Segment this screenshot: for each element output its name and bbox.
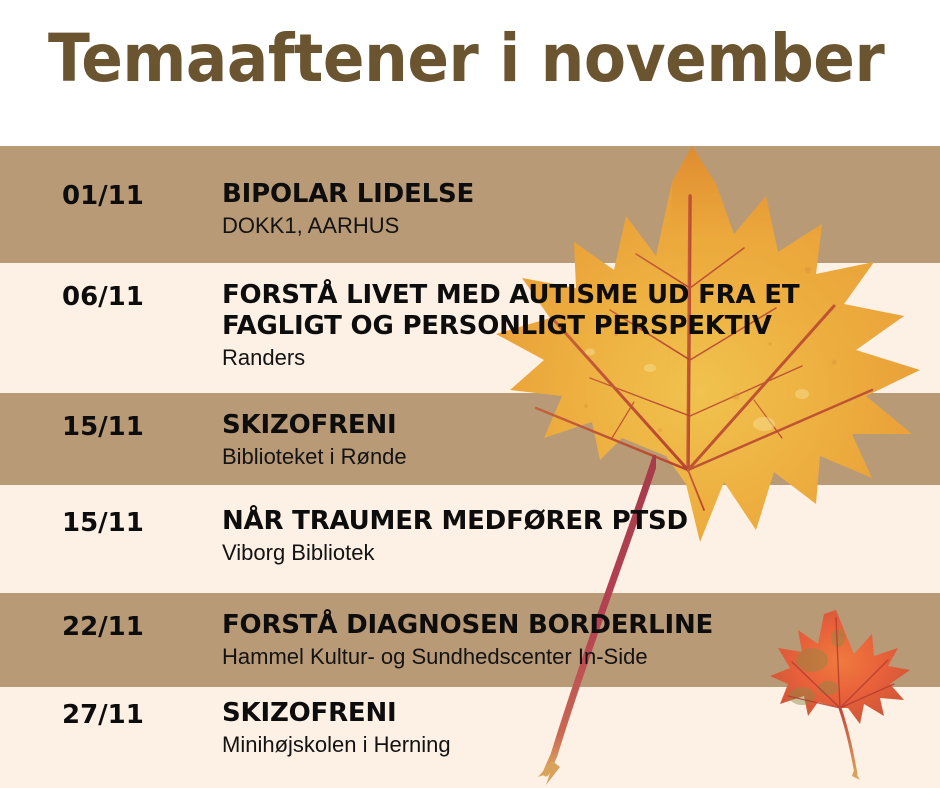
event-title: NÅR TRAUMER MEDFØRER PTSD	[222, 506, 930, 537]
event-date: 15/11	[62, 508, 144, 538]
event-body: FORSTÅ DIAGNOSEN BORDERLINEHammel Kultur…	[222, 610, 930, 670]
event-title: FORSTÅ LIVET MED AUTISME UD FRA ET FAGLI…	[222, 280, 930, 342]
event-venue: DOKK1, AARHUS	[222, 212, 930, 239]
event-venue: Viborg Bibliotek	[222, 539, 930, 566]
event-venue: Hammel Kultur- og Sundhedscenter In-Side	[222, 643, 930, 670]
event-title: SKIZOFRENI	[222, 698, 930, 729]
event-date: 01/11	[62, 181, 144, 211]
event-body: BIPOLAR LIDELSEDOKK1, AARHUS	[222, 179, 930, 239]
event-date: 27/11	[62, 700, 144, 730]
event-title: FORSTÅ DIAGNOSEN BORDERLINE	[222, 610, 930, 641]
page-title: Temaaftener i november	[48, 26, 884, 92]
event-body: NÅR TRAUMER MEDFØRER PTSDViborg Bibliote…	[222, 506, 930, 566]
event-title: SKIZOFRENI	[222, 410, 930, 441]
event-body: SKIZOFRENIBiblioteket i Rønde	[222, 410, 930, 470]
poster-canvas: Temaaftener i november 01/11BIPOLAR LIDE…	[0, 0, 940, 788]
event-body: FORSTÅ LIVET MED AUTISME UD FRA ET FAGLI…	[222, 280, 930, 371]
event-date: 22/11	[62, 612, 144, 642]
event-venue: Biblioteket i Rønde	[222, 443, 930, 470]
event-body: SKIZOFRENIMinihøjskolen i Herning	[222, 698, 930, 758]
event-venue: Randers	[222, 344, 930, 371]
header-band: Temaaftener i november	[0, 0, 940, 145]
event-date: 15/11	[62, 412, 144, 442]
event-date: 06/11	[62, 282, 144, 312]
event-title: BIPOLAR LIDELSE	[222, 179, 930, 210]
event-venue: Minihøjskolen i Herning	[222, 731, 930, 758]
